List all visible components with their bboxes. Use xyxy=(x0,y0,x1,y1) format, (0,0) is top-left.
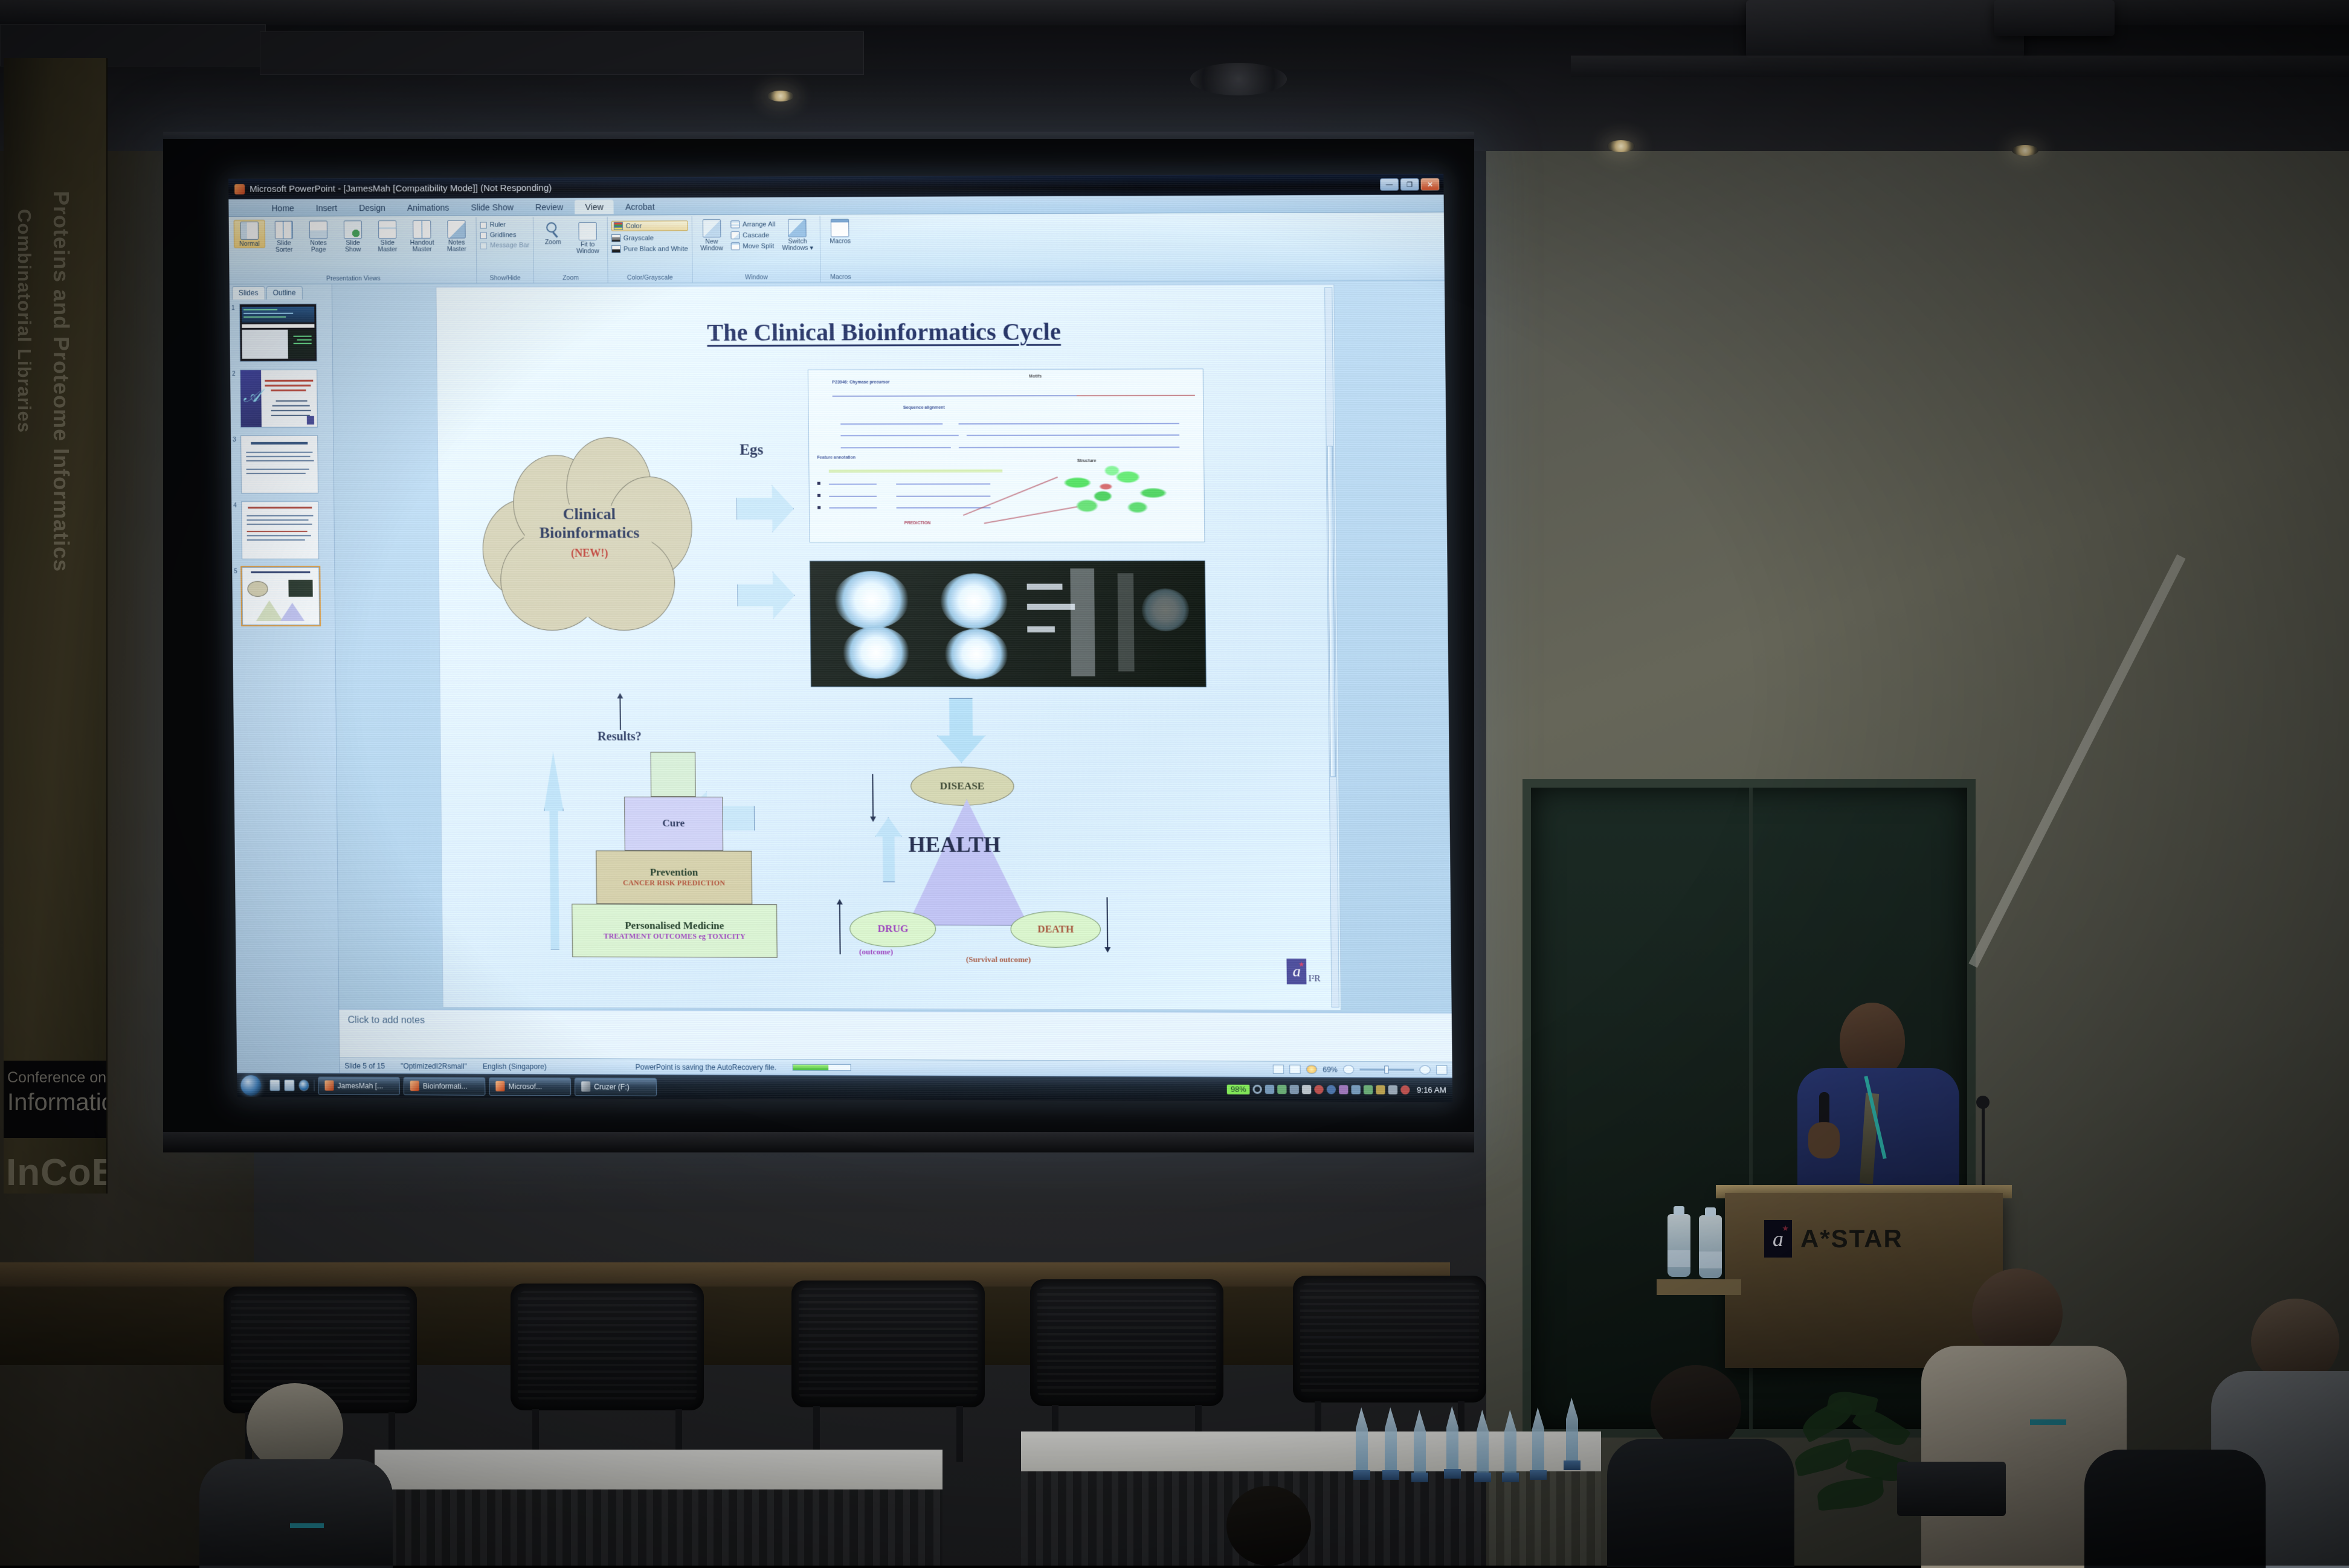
move-split-item[interactable]: Move Split xyxy=(730,242,776,250)
gridlines-checkbox-row[interactable]: Gridlines xyxy=(480,231,529,239)
group-label-zoom: Zoom xyxy=(538,274,604,282)
i2r-logo-text: I²R xyxy=(1309,974,1321,985)
thumbnail-number: 4 xyxy=(233,503,237,509)
chair-back xyxy=(1030,1279,1223,1406)
cloud-line-1: Clinical xyxy=(562,505,616,524)
pyramid-label-prevention: Prevention xyxy=(650,867,698,879)
language-indicator[interactable]: English (Singapore) xyxy=(483,1062,547,1070)
chair-back xyxy=(791,1280,985,1407)
banner-lower-line1: Conference on xyxy=(7,1069,108,1087)
magnifier-icon xyxy=(544,221,562,239)
slide-sorter-button[interactable]: SlideSorter xyxy=(268,220,300,254)
ribbon-group-window: NewWindow Arrange All Cascade xyxy=(692,216,821,282)
tab-animations[interactable]: Animations xyxy=(397,201,460,216)
thumbnail-item[interactable]: 5 xyxy=(242,567,331,625)
slide-show-icon xyxy=(344,220,362,239)
arrow-health-up xyxy=(875,817,903,882)
notes-pane[interactable]: Click to add notes xyxy=(339,1009,1452,1062)
group-label-show-hide: Show/Hide xyxy=(480,274,529,282)
printer-icon[interactable] xyxy=(1290,1085,1299,1094)
ribbon-group-show-hide: Ruler Gridlines Message Bar xyxy=(476,217,533,283)
normal-view-icon xyxy=(240,222,259,240)
thumbnail-item[interactable]: 3 xyxy=(240,435,330,493)
panel-subheader-annotation: Feature annotation xyxy=(817,456,855,460)
theme-name: "OptimizedI2Rsmall" xyxy=(401,1062,467,1070)
pane-tab-outline[interactable]: Outline xyxy=(266,286,302,300)
bluetooth-icon[interactable] xyxy=(1327,1085,1336,1094)
minimize-button[interactable]: — xyxy=(1380,178,1399,190)
color-swatch-icon xyxy=(614,222,623,230)
results-label: Results? xyxy=(598,730,642,744)
fit-window-icon xyxy=(578,222,596,240)
arrow-progress-up xyxy=(543,751,565,949)
slide-title: The Clinical Bioinformatics Cycle xyxy=(707,318,1061,347)
arrow-death-down xyxy=(1107,897,1109,948)
thumbnail-slide-2[interactable]: 𝒜 xyxy=(240,370,318,428)
audience-torso xyxy=(199,1459,393,1568)
tab-view[interactable]: View xyxy=(575,200,614,215)
taskbar-label: Cruzer (F:) xyxy=(594,1082,630,1091)
network-icon[interactable] xyxy=(1265,1085,1274,1094)
grayscale-label: Grayscale xyxy=(623,234,654,242)
tab-insert[interactable]: Insert xyxy=(306,201,347,216)
banner-line-2: Combinatorial Libraries xyxy=(13,209,35,849)
ceiling-downlight xyxy=(1607,140,1635,152)
taskbar-clock[interactable]: 9:16 AM xyxy=(1413,1085,1446,1094)
ceiling-beam xyxy=(1571,56,2349,77)
astar-logo-mark: a xyxy=(1764,1220,1792,1258)
audience-torso xyxy=(2084,1450,2266,1568)
gridlines-checkbox[interactable] xyxy=(480,232,487,239)
document-icon[interactable] xyxy=(1302,1085,1311,1094)
display-icon[interactable] xyxy=(1352,1085,1361,1094)
fit-window-icon[interactable] xyxy=(1436,1065,1448,1075)
grayscale-option[interactable]: Grayscale xyxy=(611,234,688,242)
pyramid-layer-cure: Cure xyxy=(624,797,723,850)
move-split-icon xyxy=(730,242,739,250)
taskbar-label: JamesMah [... xyxy=(337,1081,383,1090)
conference-banner: Proteins and Proteome Informatics Combin… xyxy=(4,58,108,1194)
cloud-line-2: Bioinformatics xyxy=(540,524,640,542)
cascade-item[interactable]: Cascade xyxy=(730,231,776,239)
update-icon[interactable] xyxy=(1277,1085,1286,1094)
taskbar-label: Bioinformati... xyxy=(423,1082,468,1090)
ribbon-group-macros: Macros Macros xyxy=(820,216,860,282)
clinical-bioinformatics-cloud: Clinical Bioinformatics (NEW!) xyxy=(477,423,702,643)
quick-launch[interactable] xyxy=(265,1079,314,1091)
glass-award xyxy=(1474,1410,1491,1482)
tab-slide-show[interactable]: Slide Show xyxy=(460,200,524,215)
thumbnail-list[interactable]: 1 xyxy=(230,299,339,1073)
arrow-drug-up xyxy=(839,904,841,954)
screen-bottom-rail xyxy=(163,1132,1474,1152)
ceiling-panel xyxy=(260,31,864,75)
arrow-cloud-to-panel-2 xyxy=(737,571,795,619)
thumbnail-slide-1[interactable] xyxy=(239,304,317,362)
slide-master-button[interactable]: SlideMaster xyxy=(372,219,404,253)
antivirus-icon[interactable] xyxy=(1315,1085,1324,1094)
drug-sub-label: (outcome) xyxy=(859,947,893,957)
taskbar-item-microsoft[interactable]: Microsof... xyxy=(489,1077,571,1096)
power-icon[interactable] xyxy=(1376,1085,1385,1094)
ceiling-downlight xyxy=(2012,145,2038,156)
audience-lanyard xyxy=(2030,1419,2066,1425)
chair-back xyxy=(1293,1276,1486,1403)
pure-bw-option[interactable]: Pure Black and White xyxy=(611,245,688,252)
color-option[interactable]: Color xyxy=(611,220,688,231)
slides-pane: Slides Outline 1 xyxy=(230,284,340,1073)
podium-shelf xyxy=(1657,1279,1741,1295)
panel-prediction-label: PREDICTION xyxy=(904,521,931,525)
slide-show-icon[interactable] xyxy=(1306,1065,1317,1074)
handout-master-label-2: Master xyxy=(412,246,431,253)
switch-windows-icon[interactable] xyxy=(284,1079,294,1091)
audience-lanyard xyxy=(290,1523,324,1528)
slide-counter: Slide 5 of 15 xyxy=(344,1061,385,1070)
stage-chair xyxy=(791,1280,985,1462)
stage-face xyxy=(0,1287,1450,1365)
group-label-macros: Macros xyxy=(825,274,857,281)
thumbnail-item[interactable]: 1 xyxy=(239,304,329,362)
pyramid-sub-prevention: CANCER RISK PREDICTION xyxy=(623,879,725,888)
notes-master-label-2: Master xyxy=(447,246,466,253)
slide-master-icon xyxy=(378,220,396,239)
pyramid-layer-prevention: Prevention CANCER RISK PREDICTION xyxy=(596,850,752,904)
pyramid-label-personalised: Personalised Medicine xyxy=(625,920,724,933)
thumbnail-number: 5 xyxy=(234,568,237,575)
status-bar-right: 69% xyxy=(1273,1065,1448,1075)
volume-icon[interactable] xyxy=(1400,1085,1410,1094)
bioinformatics-panel: P23946: Chymase precursor Motifs Sequenc… xyxy=(808,368,1205,542)
macros-icon xyxy=(831,219,849,237)
glass-award xyxy=(1444,1406,1461,1479)
astar-logo-text: A*STAR xyxy=(1800,1224,1903,1253)
death-ellipse: DEATH xyxy=(1011,911,1101,948)
workspace: Slides Outline 1 xyxy=(230,281,1452,1078)
taskbar-item-cruzer[interactable]: Cruzer (F:) xyxy=(575,1078,657,1096)
pyramid-label-cure: Cure xyxy=(662,818,685,830)
restore-button[interactable]: ❐ xyxy=(1400,178,1419,190)
arrow-to-disease xyxy=(936,698,985,763)
start-orb[interactable] xyxy=(240,1075,261,1096)
macros-button[interactable]: Macros xyxy=(824,217,856,245)
grayscale-swatch-icon xyxy=(611,234,620,242)
new-window-icon xyxy=(702,219,721,237)
glass-award xyxy=(1411,1410,1428,1482)
slide-sorter-label-2: Sorter xyxy=(275,246,293,254)
pyramid-layer-1 xyxy=(650,752,696,797)
table-top xyxy=(375,1450,942,1489)
water-bottle xyxy=(1699,1215,1722,1278)
glass-award xyxy=(1564,1398,1580,1470)
notes-master-button[interactable]: NotesMaster xyxy=(440,219,472,253)
presenter xyxy=(1797,1003,1961,1202)
laptop xyxy=(1897,1462,2006,1516)
protein-structure-render xyxy=(1029,447,1188,527)
podium-logo: a A*STAR xyxy=(1764,1220,1903,1258)
message-bar-label: Message Bar xyxy=(490,242,529,249)
thumbnail-item[interactable]: 2 𝒜 xyxy=(240,370,329,428)
thumbnail-slide-4[interactable] xyxy=(241,501,319,559)
pure-bw-swatch-icon xyxy=(611,245,620,253)
fit-to-window-button[interactable]: Fit toWindow xyxy=(572,221,604,255)
health-triangle xyxy=(906,799,1029,926)
death-sub-label: (Survival outcome) xyxy=(966,954,1031,964)
powerpoint-window: Microsoft PowerPoint - [JamesMah [Compat… xyxy=(228,174,1452,1102)
thumbnail-slide-3[interactable] xyxy=(240,435,318,493)
ribbon-group-zoom: Zoom Fit toWindow Zoom xyxy=(533,217,608,283)
usb-drive-icon xyxy=(581,1081,590,1091)
banner-strip: Conference on Informatics xyxy=(4,1061,108,1138)
cascade-label: Cascade xyxy=(743,231,769,239)
slide-vertical-scrollbar[interactable] xyxy=(1324,287,1339,1007)
pure-bw-label: Pure Black and White xyxy=(623,245,688,252)
slide-show-label-2: Show xyxy=(345,246,361,253)
ribbon-group-color-grayscale: Color Grayscale Pure Black and White xyxy=(607,216,692,283)
presenter-hand xyxy=(1808,1122,1840,1158)
water-bottle xyxy=(1667,1214,1690,1277)
tab-acrobat[interactable]: Acrobat xyxy=(615,199,665,214)
stage-chair xyxy=(511,1284,704,1465)
audience-head xyxy=(1226,1486,1311,1566)
audience-member xyxy=(199,1383,393,1566)
ceiling-vent xyxy=(1190,63,1287,95)
cascade-icon xyxy=(730,231,739,239)
slide-show-button[interactable]: SlideShow xyxy=(337,219,369,253)
notes-placeholder: Click to add notes xyxy=(347,1015,425,1026)
thumbnail-item[interactable]: 4 xyxy=(241,501,330,559)
handout-master-button[interactable]: HandoutMaster xyxy=(406,219,438,253)
new-window-button[interactable]: NewWindow xyxy=(695,218,727,252)
group-label-presentation-views: Presentation Views xyxy=(234,275,473,283)
internet-explorer-icon[interactable] xyxy=(298,1079,309,1091)
arrow-results-up xyxy=(619,698,620,730)
battery-badge[interactable]: 98% xyxy=(1227,1084,1250,1094)
powerpoint-icon xyxy=(324,1081,333,1091)
action-center-icon[interactable] xyxy=(1388,1085,1397,1094)
cloud-new-tag: (NEW!) xyxy=(571,544,608,563)
fit-window-label-2: Window xyxy=(576,248,599,255)
glass-award xyxy=(1382,1407,1399,1480)
notes-page-label-2: Page xyxy=(311,246,326,253)
audience-member xyxy=(1202,1486,1341,1568)
pyramid-sub-personalised: TREATMENT OUTCOMES eg TOXICITY xyxy=(604,932,746,942)
switch-windows-icon xyxy=(788,219,807,237)
powerpoint-icon xyxy=(234,184,245,194)
arrow-cloud-to-panel-1 xyxy=(736,485,794,533)
message-bar-checkbox-row: Message Bar xyxy=(480,242,529,249)
audience-member xyxy=(2084,1450,2266,1566)
outcome-pyramid: Cure Prevention CANCER RISK PREDICTION P… xyxy=(570,752,778,958)
slide-master-label-2: Master xyxy=(378,246,397,253)
slide-sorter-icon[interactable] xyxy=(1289,1065,1300,1074)
notes-master-icon xyxy=(447,220,465,239)
notes-page-button[interactable]: NotesPage xyxy=(303,219,335,253)
handout-master-icon xyxy=(413,220,431,239)
message-bar-checkbox xyxy=(480,242,487,249)
health-label: HEALTH xyxy=(908,832,1000,858)
astar-logo-mark: a xyxy=(1287,959,1307,985)
slides-pane-tabs[interactable]: Slides Outline xyxy=(230,284,332,300)
close-button[interactable]: ✕ xyxy=(1421,178,1440,190)
zoom-button-label: Zoom xyxy=(545,239,561,246)
ceiling-speaker xyxy=(1746,0,2024,58)
thumbnail-slide-5[interactable] xyxy=(242,567,320,625)
pane-tab-slides[interactable]: Slides xyxy=(232,286,265,300)
banner-incob-logo: InCoB xyxy=(6,1151,108,1194)
thumbnail-number: 2 xyxy=(232,371,236,378)
table-skirt xyxy=(375,1489,942,1566)
thumbnail-number: 3 xyxy=(233,437,236,443)
ruler-checkbox-row[interactable]: Ruler xyxy=(480,221,529,228)
panel-subheader-alignment: Sequence alignment xyxy=(903,406,945,410)
switch-windows-button[interactable]: SwitchWindows ▾ xyxy=(778,217,816,252)
projected-desktop: Microsoft PowerPoint - [JamesMah [Compat… xyxy=(228,174,1452,1102)
zoom-in-icon[interactable] xyxy=(1419,1065,1431,1075)
macros-label: Macros xyxy=(830,238,851,245)
normal-view-button[interactable]: Normal xyxy=(234,220,265,248)
new-window-label-2: Window xyxy=(700,245,723,252)
stage-edge xyxy=(0,1262,1450,1287)
conference-room: Proteins and Proteome Informatics Combin… xyxy=(0,0,2349,1566)
powerpoint-icon xyxy=(410,1081,419,1091)
window-title: Microsoft PowerPoint - [JamesMah [Compat… xyxy=(250,182,552,194)
notes-page-icon xyxy=(309,220,327,239)
thumbnail-number: 1 xyxy=(231,305,235,312)
arrange-all-item[interactable]: Arrange All xyxy=(730,220,776,228)
current-slide[interactable]: The Clinical Bioinformatics Cycle xyxy=(436,284,1341,1011)
glass-award xyxy=(1530,1407,1547,1480)
zoom-slider[interactable] xyxy=(1359,1068,1414,1070)
drug-ellipse: DRUG xyxy=(850,911,936,947)
media-icon[interactable] xyxy=(1339,1085,1348,1094)
taskbar-label: Microsof... xyxy=(508,1082,542,1090)
window-controls[interactable]: — ❐ ✕ xyxy=(1380,178,1443,191)
tab-review[interactable]: Review xyxy=(525,200,574,215)
slide-editor: The Clinical Bioinformatics Cycle xyxy=(332,281,1452,1078)
gridlines-label: Gridlines xyxy=(490,231,517,239)
zoom-level: 69% xyxy=(1323,1065,1338,1073)
audience-member xyxy=(1607,1365,1794,1566)
show-desktop-icon[interactable] xyxy=(269,1079,280,1091)
safe-remove-icon[interactable] xyxy=(1364,1085,1373,1094)
color-label: Color xyxy=(626,222,642,230)
switch-windows-label-2: Windows ▾ xyxy=(782,245,813,252)
audience-torso xyxy=(1607,1439,1794,1567)
egs-label: Egs xyxy=(739,442,764,458)
banner-line-1: Proteins and Proteome Informatics xyxy=(48,191,74,904)
ruler-label: Ruler xyxy=(490,221,506,228)
slide-sorter-icon xyxy=(275,221,293,239)
glass-award xyxy=(1502,1410,1519,1482)
normal-view-icon[interactable] xyxy=(1273,1065,1284,1074)
draped-table-left xyxy=(375,1450,942,1566)
ceiling-speaker xyxy=(1994,0,2115,36)
autorecovery-progress xyxy=(792,1064,851,1071)
arrow-disease-down xyxy=(872,774,874,817)
disease-ellipse: DISEASE xyxy=(910,766,1014,806)
ribbon-group-presentation-views: Normal SlideSorter NotesPage SlideS xyxy=(230,217,477,283)
sync-icon[interactable] xyxy=(1253,1085,1262,1094)
imaging-panel xyxy=(810,561,1207,687)
slide-canvas-area[interactable]: The Clinical Bioinformatics Cycle xyxy=(332,281,1452,1013)
status-message: PowerPoint is saving the AutoRecovery fi… xyxy=(636,1062,777,1072)
group-label-window: Window xyxy=(696,274,817,282)
move-split-label: Move Split xyxy=(743,242,774,249)
system-tray[interactable]: 98% 9:16 AM xyxy=(1227,1084,1449,1095)
taskbar-item-bioinformatics[interactable]: Bioinformati... xyxy=(404,1077,486,1096)
arrange-all-label: Arrange All xyxy=(743,220,775,228)
tab-home[interactable]: Home xyxy=(261,201,304,216)
astar-i2r-logo: a I²R xyxy=(1287,959,1321,985)
group-label-color-grayscale: Color/Grayscale xyxy=(611,274,688,282)
cloud-text: Clinical Bioinformatics (NEW!) xyxy=(477,423,702,643)
banner-lower-line2: Informatics xyxy=(7,1089,108,1116)
zoom-button[interactable]: Zoom xyxy=(537,221,569,246)
ribbon: Normal SlideSorter NotesPage SlideS xyxy=(229,213,1445,284)
glass-award xyxy=(1353,1407,1370,1480)
chair-back xyxy=(511,1284,704,1410)
taskbar-item-jamesmah[interactable]: JamesMah [... xyxy=(318,1076,400,1095)
windows-taskbar: JamesMah [... Bioinformati... Microsof..… xyxy=(237,1073,1452,1102)
powerpoint-icon xyxy=(495,1081,504,1091)
normal-view-label: Normal xyxy=(239,241,260,248)
ceiling-downlight xyxy=(767,91,794,101)
panel-header: P23946: Chymase precursor xyxy=(832,380,889,384)
arrange-all-icon xyxy=(730,220,739,228)
pyramid-layer-personalised: Personalised Medicine TREATMENT OUTCOMES… xyxy=(572,904,778,957)
panel-subheader-motifs: Motifs xyxy=(1029,374,1042,379)
zoom-out-icon[interactable] xyxy=(1343,1065,1355,1074)
ruler-checkbox[interactable] xyxy=(480,222,487,228)
tab-design[interactable]: Design xyxy=(349,201,396,216)
